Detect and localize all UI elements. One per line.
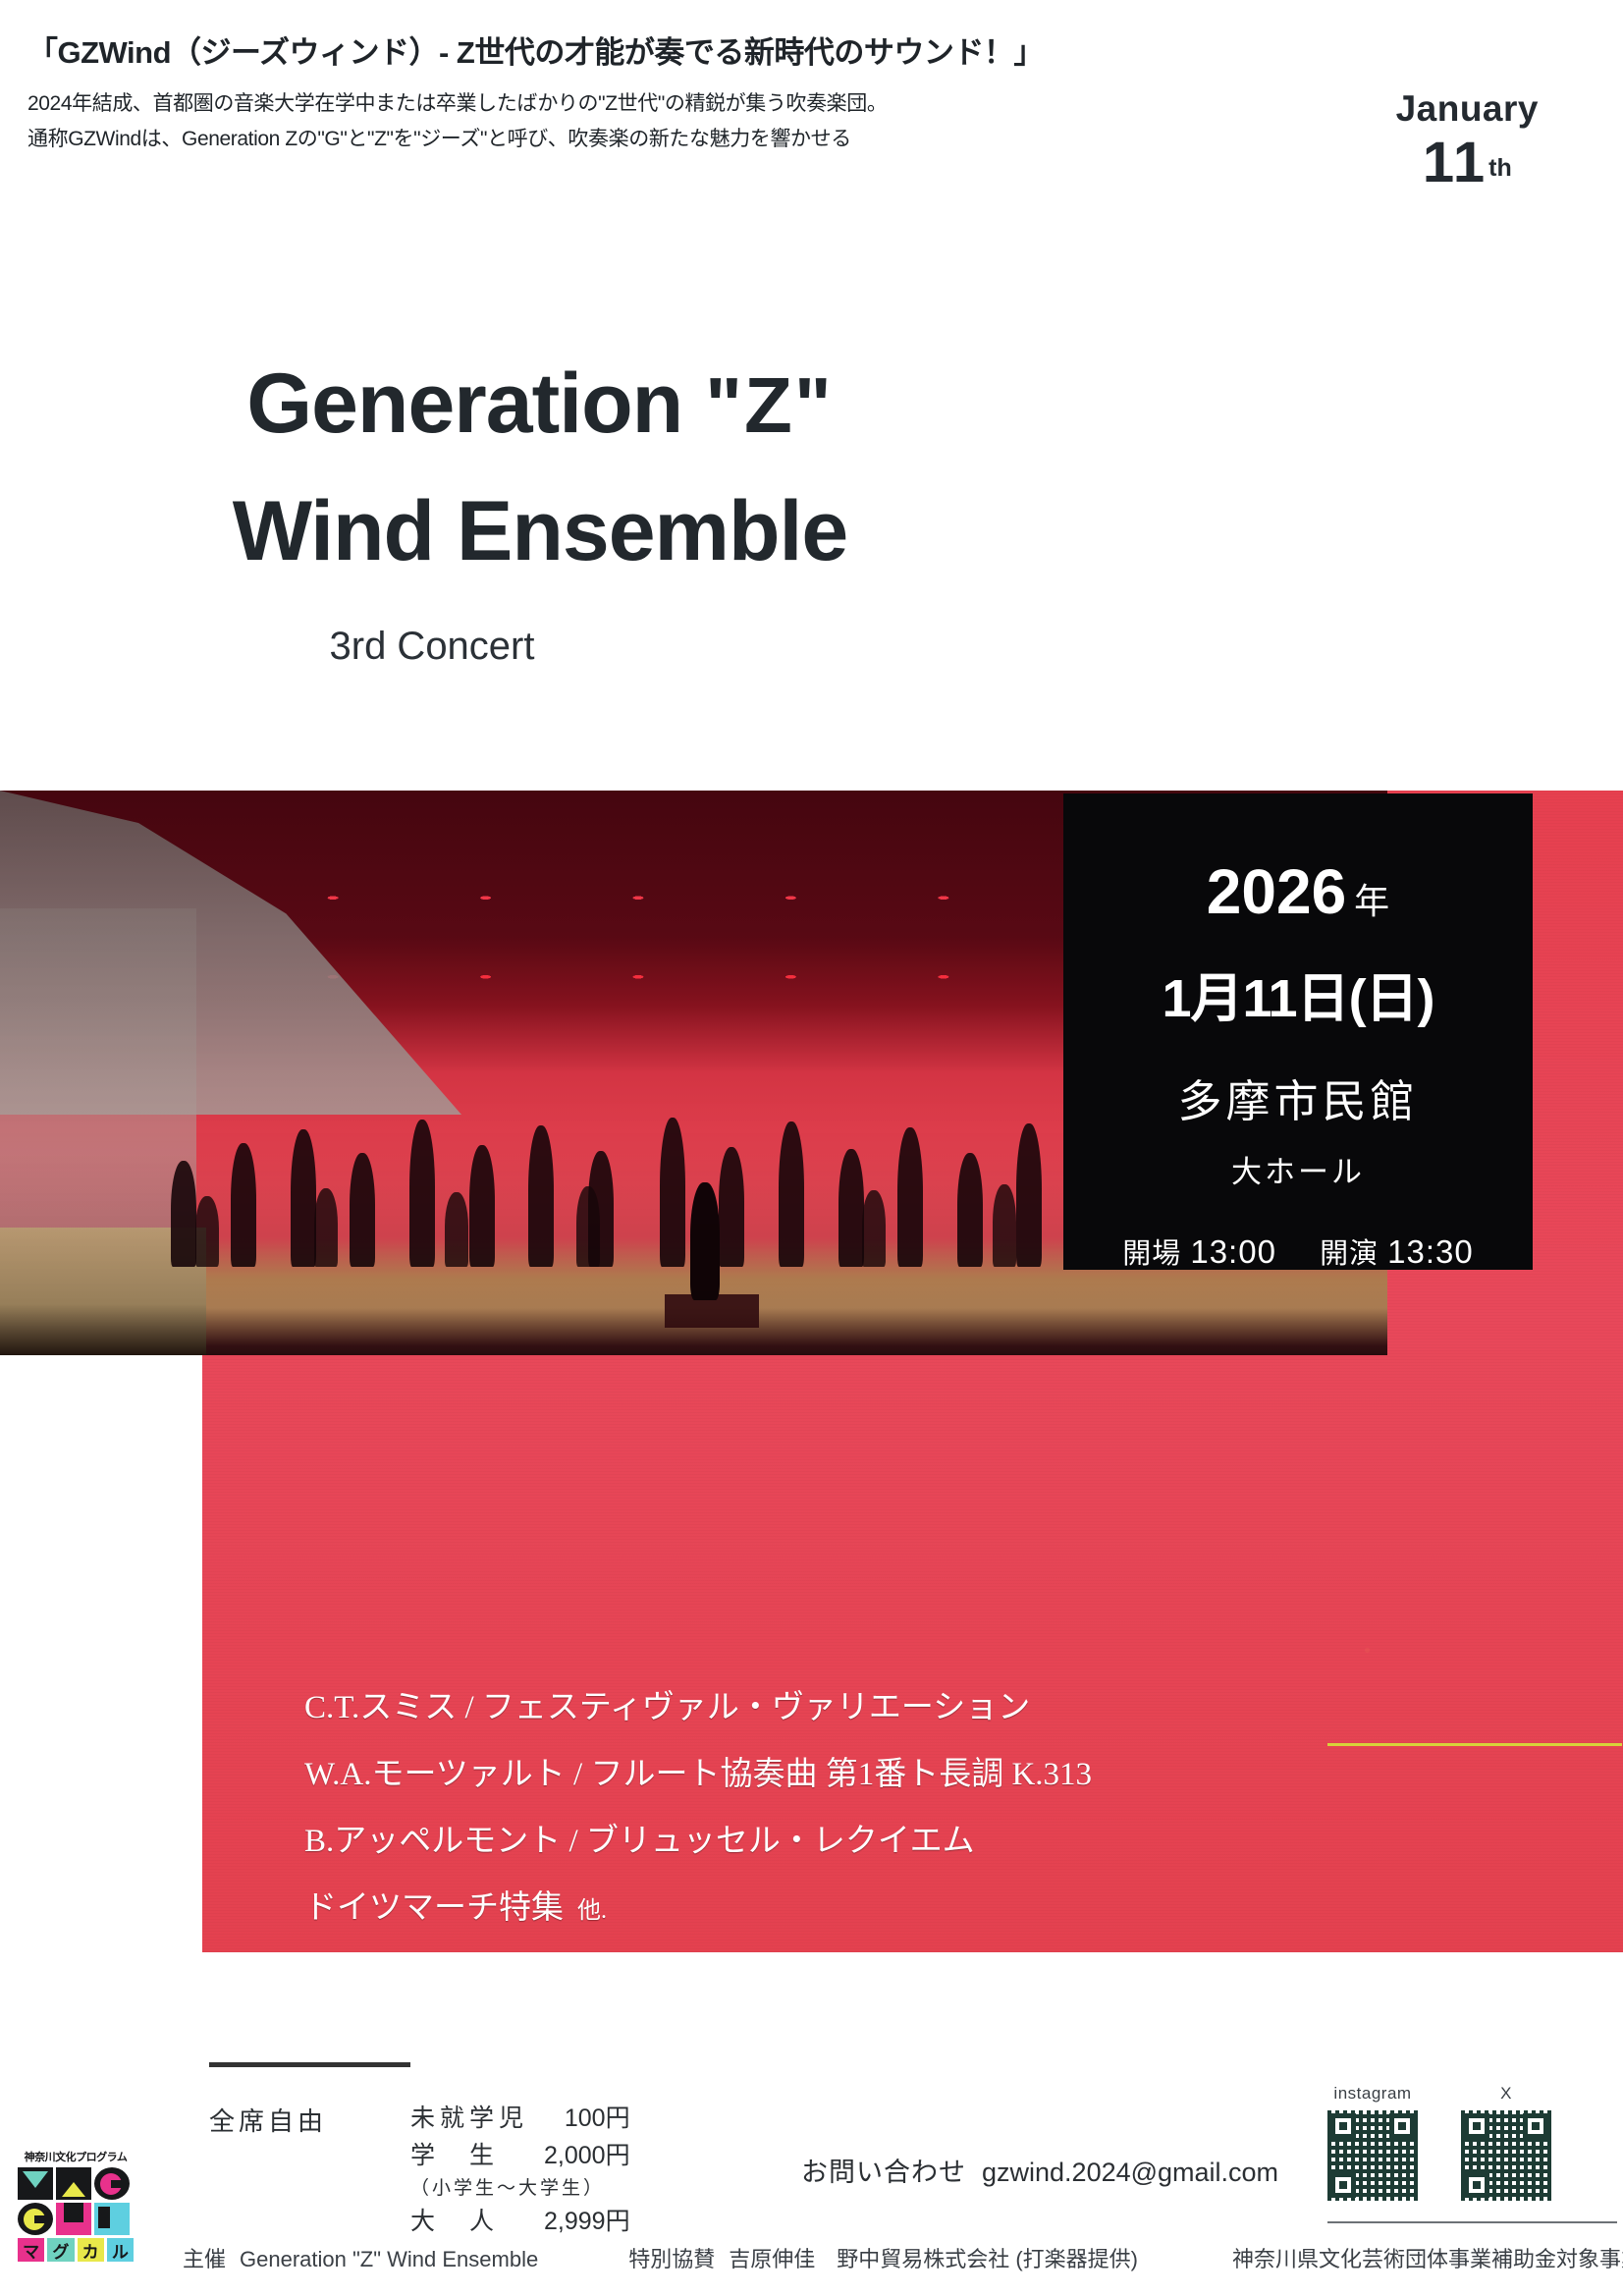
concert-poster: 「GZWind（ジーズウィンド）- Z世代の才能が奏でる新時代のサウンド！」 2… xyxy=(0,0,1623,2296)
title-line-2: Wind Ensemble xyxy=(0,489,1080,574)
footer-divider xyxy=(1327,2221,1617,2223)
table-row: 未就学児 100円 xyxy=(410,2098,630,2135)
magcul-logo: 神奈川文化プログラム マ グ カ ル xyxy=(18,2149,134,2262)
table-row: （小学生～大学生） xyxy=(410,2172,630,2201)
ticket-divider xyxy=(209,2062,410,2067)
doors-open-time: 13:00 xyxy=(1190,1233,1276,1270)
contact-label: お問い合わせ xyxy=(801,2158,966,2187)
organizer-label: 主催 xyxy=(183,2247,226,2271)
magcul-letter-l-icon xyxy=(94,2203,130,2235)
intro-line-2: 通称GZWindは、Generation Zの"G"と"Z"を"ジーズ"と呼び、… xyxy=(27,122,1068,157)
title-line-1: Generation "Z" xyxy=(0,361,1080,446)
magcul-tagline: 神奈川文化プログラム xyxy=(18,2149,134,2164)
magcul-kana-2: グ xyxy=(47,2238,74,2262)
instagram-qr[interactable]: instagram xyxy=(1327,2084,1418,2201)
start-label: 開演 xyxy=(1320,1238,1379,1270)
magcul-letter-u-icon xyxy=(56,2203,91,2235)
magcul-kana-1-label: マ xyxy=(18,2238,44,2262)
contact-email[interactable]: gzwind.2024@gmail.com xyxy=(982,2158,1278,2187)
magcul-kana-4: ル xyxy=(107,2238,134,2262)
magcul-letter-c-icon xyxy=(94,2167,130,2200)
title-generation: Generation xyxy=(246,356,682,451)
magcul-kana-2-label: グ xyxy=(47,2238,74,2262)
x-qr[interactable]: X xyxy=(1461,2084,1551,2201)
ticket-price: 2,000円 xyxy=(544,2135,630,2172)
grant-note: 神奈川県文化芸術団体事業補助金対象事業 xyxy=(1232,2247,1623,2271)
date-badge: January 11th xyxy=(1396,90,1539,191)
magcul-kana-3-label: カ xyxy=(78,2238,104,2262)
table-row: 学 生 2,000円 xyxy=(410,2135,630,2172)
program-item: ドイツマーチ特集他. xyxy=(304,1875,1092,1944)
student-age-note: （小学生～大学生） xyxy=(410,2172,630,2201)
ticket-kind: 大 人 xyxy=(410,2201,544,2238)
program-item-text: B.アッペルモント / ブリュッセル・レクイエム xyxy=(304,1824,975,1859)
doors-open-label: 開場 xyxy=(1122,1238,1181,1270)
magcul-row-cul xyxy=(18,2203,134,2235)
event-month-day: 1月11日(日) xyxy=(1063,955,1533,1032)
event-year: 2026 xyxy=(1207,856,1346,927)
white-cutout-left xyxy=(0,1355,202,1954)
instagram-label: instagram xyxy=(1327,2084,1418,2104)
x-label: X xyxy=(1461,2084,1551,2104)
qr-code-icon[interactable] xyxy=(1461,2110,1551,2201)
event-year-row: 2026年 xyxy=(1063,860,1533,923)
qr-code-icon[interactable] xyxy=(1327,2110,1418,2201)
magcul-kana-3: カ xyxy=(78,2238,104,2262)
contact-line: お問い合わせgzwind.2024@gmail.com xyxy=(801,2151,1278,2189)
magcul-kana-4-label: ル xyxy=(107,2238,134,2262)
ticket-kind: 学 生 xyxy=(410,2135,544,2172)
intro-line-1: 2024年結成、首都圏の音楽大学在学中または卒業したばかりの"Z世代"の精鋭が集… xyxy=(27,86,1068,122)
credits-line: 主催Generation "Z" Wind Ensemble特別協賛吉原伸佳 野… xyxy=(183,2242,1606,2273)
seating-label: 全席自由 xyxy=(209,2102,327,2138)
magcul-letter-c2-icon xyxy=(18,2203,53,2235)
yellow-accent-rule xyxy=(1327,1743,1622,1746)
title-subtitle: 3rd Concert xyxy=(0,625,1080,669)
event-venue: 多摩市民館 xyxy=(1063,1066,1533,1129)
program-list: C.T.スミス / フェスティヴァル・ヴァリエーション W.A.モーツァルト /… xyxy=(304,1674,1092,1944)
event-times: 開場 13:00 開演 13:30 xyxy=(1063,1230,1533,1272)
program-item-text: ドイツマーチ特集 xyxy=(304,1890,564,1926)
title-block: Generation "Z" Wind Ensemble 3rd Concert xyxy=(0,361,1080,669)
program-item-text: C.T.スミス / フェスティヴァル・ヴァリエーション xyxy=(304,1690,1030,1725)
ticket-price-table: 未就学児 100円 学 生 2,000円 （小学生～大学生） 大 人 2,999… xyxy=(410,2098,630,2238)
ticket-price: 2,999円 xyxy=(544,2201,630,2238)
sponsor-name: 吉原伸佳 野中貿易株式会社 (打楽器提供) xyxy=(729,2247,1138,2271)
ticket-price: 100円 xyxy=(544,2098,630,2135)
magcul-letter-a-icon xyxy=(56,2167,91,2200)
start-time: 13:30 xyxy=(1387,1233,1474,1270)
page-headline: 「GZWind（ジーズウィンド）- Z世代の才能が奏でる新時代のサウンド！」 xyxy=(27,27,1039,72)
magcul-kana-1: マ xyxy=(18,2238,44,2262)
date-day-row: 11th xyxy=(1396,135,1539,191)
date-ordinal: th xyxy=(1488,154,1512,182)
date-month: January xyxy=(1396,90,1539,127)
intro-paragraph: 2024年結成、首都圏の音楽大学在学中または卒業したばかりの"Z世代"の精鋭が集… xyxy=(27,86,1068,157)
sponsor-group: 特別協賛吉原伸佳 野中貿易株式会社 (打楽器提供) xyxy=(628,2247,1138,2271)
title-z: "Z" xyxy=(705,361,834,449)
program-item: W.A.モーツァルト / フルート協奏曲 第1番ト長調 K.313 xyxy=(304,1741,1092,1808)
date-day: 11 xyxy=(1423,131,1487,194)
event-details-box: 2026年 1月11日(日) 多摩市民館 大ホール 開場 13:00 開演 13… xyxy=(1063,793,1533,1270)
magcul-row-katakana: マ グ カ ル xyxy=(18,2238,134,2262)
magcul-letter-m-icon xyxy=(18,2167,53,2200)
sponsor-label: 特別協賛 xyxy=(628,2247,715,2271)
event-year-unit: 年 xyxy=(1354,881,1389,921)
event-hall: 大ホール xyxy=(1063,1147,1533,1191)
table-row: 大 人 2,999円 xyxy=(410,2201,630,2238)
ticket-kind: 未就学児 xyxy=(410,2098,544,2135)
program-item-text: W.A.モーツァルト / フルート協奏曲 第1番ト長調 K.313 xyxy=(304,1757,1092,1792)
magcul-row-mac xyxy=(18,2167,134,2200)
program-item: B.アッペルモント / ブリュッセル・レクイエム xyxy=(304,1808,1092,1875)
program-item-etc: 他. xyxy=(577,1898,607,1924)
program-item: C.T.スミス / フェスティヴァル・ヴァリエーション xyxy=(304,1674,1092,1741)
organizer-name: Generation "Z" Wind Ensemble xyxy=(240,2247,538,2271)
social-qr-codes: instagram X xyxy=(1327,2084,1551,2201)
organizer-group: 主催Generation "Z" Wind Ensemble xyxy=(183,2247,538,2271)
